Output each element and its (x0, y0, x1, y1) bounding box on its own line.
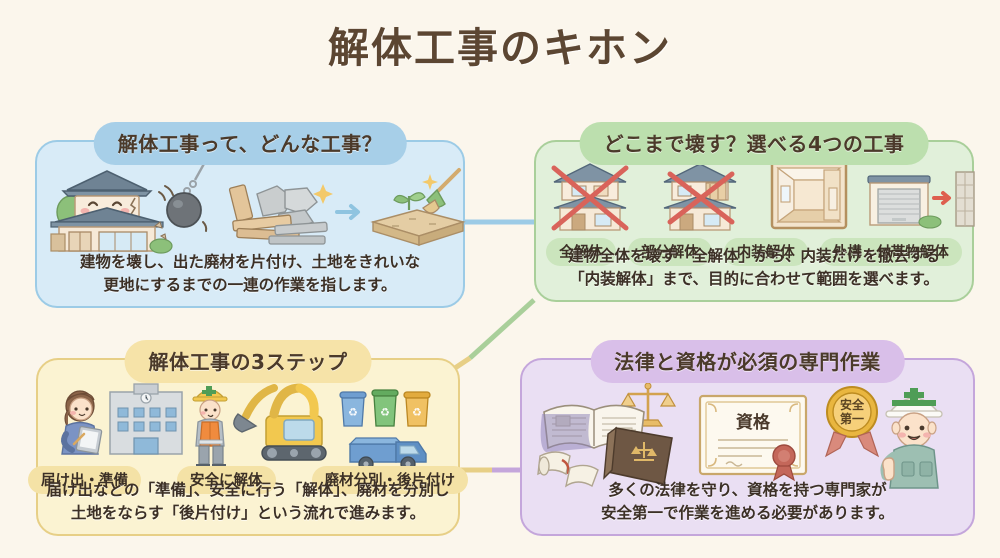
panel-2-illustrations (536, 158, 972, 234)
clerk-with-clipboard-and-city-hall-icon (62, 384, 182, 454)
garage-and-block-wall-icon (868, 172, 974, 228)
svg-text:♻: ♻ (348, 406, 358, 419)
house-crossed-out-icon (554, 164, 626, 230)
house-partly-crossed-out-icon (664, 164, 736, 230)
svg-text:♻: ♻ (412, 406, 422, 419)
worker-with-excavator-icon (193, 386, 326, 469)
panel-2-body-line-1: 建物全体を壊す「全解体」から、内装だけを撤去する (536, 245, 972, 267)
panel-4-body-line-2: 安全第一で作業を進める必要があります。 (522, 502, 973, 524)
panel-1-body-line-2: 更地にするまでの一連の作業を指します。 (37, 274, 463, 296)
panel-3-body-line-1: 届け出などの「準備」、安全に行う「解体」、廃材を分別し (38, 479, 458, 501)
panel-laws-and-licenses: 法律と資格が必須の専門作業 (520, 358, 975, 536)
certificate-text: 資格 (736, 412, 771, 433)
svg-text:♻: ♻ (380, 406, 390, 419)
panel-3-illustrations: ♻♻♻ (38, 378, 458, 468)
cleared-land-with-sprout-icon (373, 193, 463, 245)
panel-4-body-line-1: 多くの法律を守り、資格を持つ専門家が (522, 479, 973, 501)
panel-three-steps: 解体工事の3ステップ (36, 358, 460, 536)
infographic-canvas: 解体工事のキホン 解体工事って、どんな工事？ (0, 0, 1000, 558)
panel-3-body-line-2: 土地をならす「後片付け」という流れで進みます。 (38, 502, 458, 524)
certificate-icon: 資格 (700, 396, 806, 480)
panel-2-body-line-2: 「内装解体」まで、目的に合わせて範囲を選べます。 (536, 268, 972, 290)
panel-scope-of-demolition: どこまで壊す？選べる4つの工事 (534, 140, 974, 302)
panel-what-is-demolition: 解体工事って、どんな工事？ (35, 140, 465, 308)
panel-2-body: 建物全体を壊す「全解体」から、内装だけを撤去する 「内装解体」まで、目的に合わせ… (536, 245, 972, 290)
broom-icon (422, 170, 459, 213)
panel-4-illustrations: 資格 安全 第一 (522, 380, 973, 488)
recycling-bins-and-truck-icon: ♻♻♻ (340, 390, 430, 471)
panel-4-header: 法律と資格が必須の専門作業 (590, 340, 905, 383)
medal-text-line-1: 安全 (840, 397, 865, 412)
safety-first-medal-icon: 安全 第一 (826, 387, 878, 456)
panel-3-header: 解体工事の3ステップ (125, 340, 372, 383)
panel-1-illustrations (37, 160, 463, 256)
medal-text-line-2: 第一 (840, 411, 864, 426)
interior-room-icon (772, 162, 846, 228)
debris-pile-icon (229, 184, 333, 244)
panel-1-body-line-1: 建物を壊し、出た廃材を片付け、土地をきれいな (37, 251, 463, 273)
panel-4-body: 多くの法律を守り、資格を持つ専門家が 安全第一で作業を進める必要があります。 (522, 479, 973, 524)
panel-3-body: 届け出などの「準備」、安全に行う「解体」、廃材を分別し 土地をならす「後片付け」… (38, 479, 458, 524)
worker-thumbs-up-icon (883, 388, 942, 488)
panel-1-header: 解体工事って、どんな工事？ (94, 122, 407, 165)
panel-2-header: どこまで壊す？選べる4つの工事 (580, 122, 929, 165)
law-books-and-scales-icon (538, 383, 675, 486)
arrow-right-icon (337, 206, 358, 218)
panel-1-body: 建物を壊し、出た廃材を片付け、土地をきれいな 更地にするまでの一連の作業を指しま… (37, 251, 463, 296)
japanese-house-with-face-icon (51, 171, 172, 253)
